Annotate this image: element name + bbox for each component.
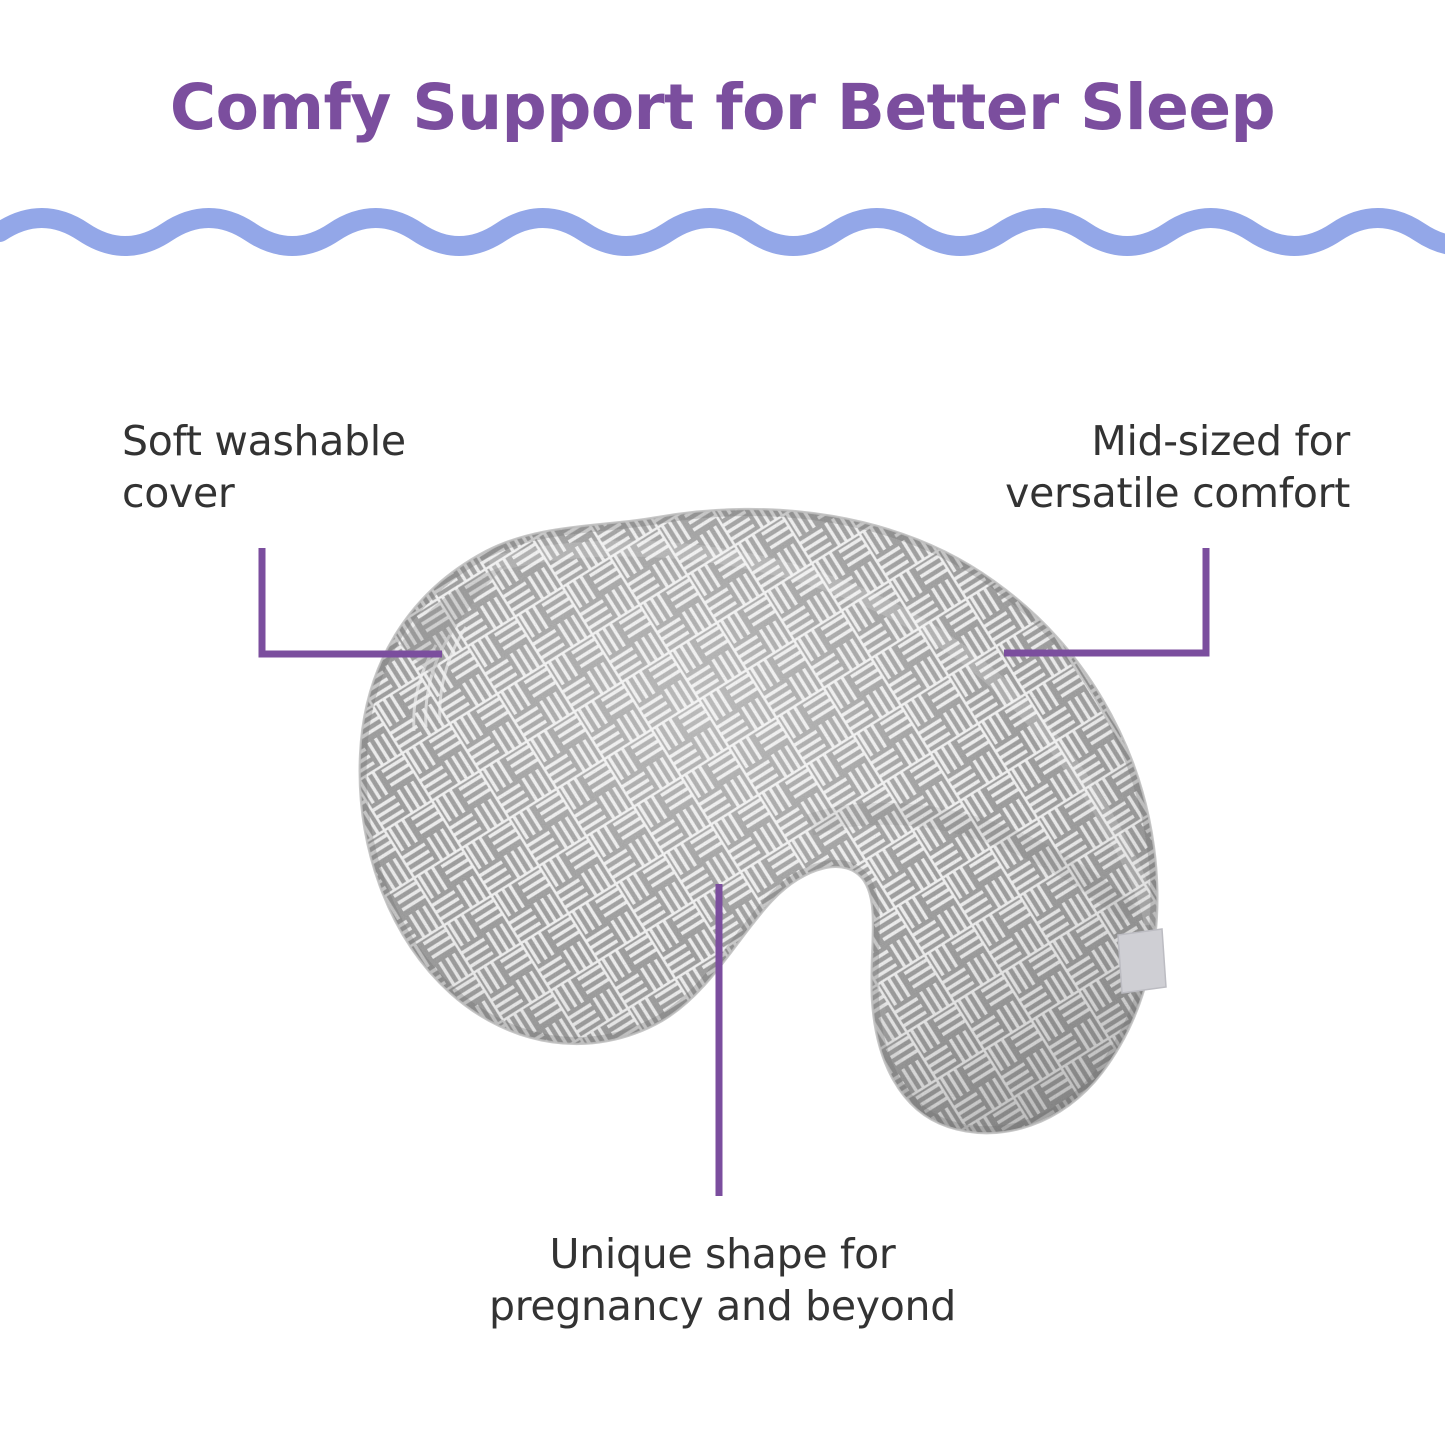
callout-label-unique-shape: Unique shape for pregnancy and beyond xyxy=(0,1228,1445,1332)
infographic-page: Comfy Support for Better Sleep xyxy=(0,0,1445,1445)
callout-label-line-2: cover xyxy=(122,467,592,519)
fabric-care-tag xyxy=(1118,929,1166,993)
callout-label-soft-washable-cover: Soft washable cover xyxy=(122,415,592,519)
callout-label-line-1: Soft washable xyxy=(122,415,592,467)
wavy-divider-icon xyxy=(0,196,1445,268)
callout-label-line-1: Mid-sized for xyxy=(830,415,1350,467)
pillow-body xyxy=(340,495,1200,1155)
callout-label-line-2: versatile comfort xyxy=(830,467,1350,519)
callout-label-line-2: pregnancy and beyond xyxy=(0,1280,1445,1332)
page-title: Comfy Support for Better Sleep xyxy=(0,72,1445,144)
product-image-nursing-pillow xyxy=(340,495,1200,1155)
callout-label-mid-sized-versatile: Mid-sized for versatile comfort xyxy=(830,415,1350,519)
callout-label-line-1: Unique shape for xyxy=(0,1228,1445,1280)
